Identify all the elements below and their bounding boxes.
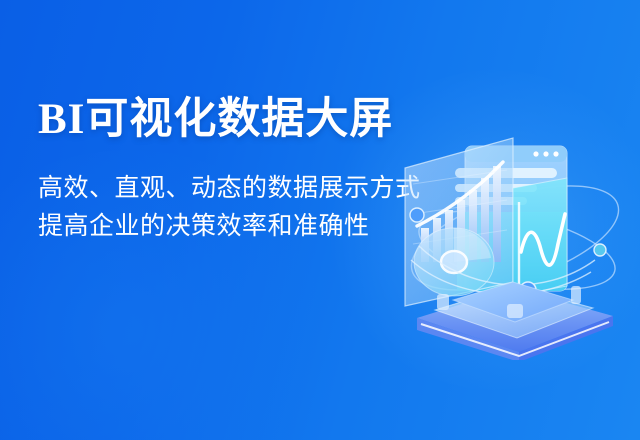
bi-banner: BI可视化数据大屏 高效、直观、动态的数据展示方式 提高企业的决策效率和准确性 [0,0,640,440]
bar-7 [493,166,501,262]
window-dot-1 [533,151,538,156]
orbit-node-left [410,208,424,222]
window-dots [533,151,558,156]
window-dot-3 [553,151,558,156]
orbit-node-right [594,244,606,256]
pedestal-post-mid [507,304,523,318]
bi-dashboard-illustration [395,110,640,360]
pedestal-post-right [571,286,581,304]
window-dot-2 [543,151,548,156]
pedestal-post-left [437,294,449,310]
